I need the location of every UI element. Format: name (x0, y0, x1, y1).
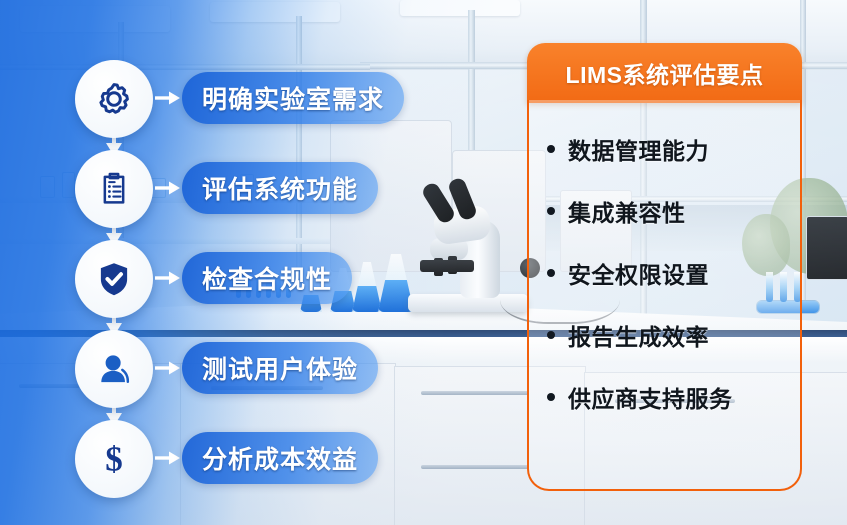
list-item-label: 数据管理能力 (568, 132, 709, 166)
step-icon-circle (75, 60, 153, 138)
flow-step-label-pill[interactable]: 明确实验室需求 (182, 72, 404, 124)
arrow-right-icon (155, 270, 181, 286)
flow-step-label: 检查合规性 (202, 260, 332, 296)
list-item-label: 供应商支持服务 (568, 380, 733, 414)
arrow-right-icon (155, 90, 181, 106)
dollar-icon: $ (93, 438, 135, 480)
step-icon-circle: $ (75, 420, 153, 498)
flow-step-label: 评估系统功能 (202, 170, 358, 206)
gear-icon (93, 78, 135, 120)
bullet-dot-icon (547, 207, 555, 215)
flow-step-label: 明确实验室需求 (202, 80, 384, 116)
flow-step-label: 测试用户体验 (202, 350, 358, 386)
list-item[interactable]: 供应商支持服务 (547, 380, 800, 414)
list-item-label: 报告生成效率 (568, 318, 709, 352)
list-item[interactable]: 数据管理能力 (547, 132, 800, 166)
list-item[interactable]: 安全权限设置 (547, 256, 800, 290)
flow-step-label-pill[interactable]: 分析成本效益 (182, 432, 378, 484)
bullet-dot-icon (547, 145, 555, 153)
list-item[interactable]: 报告生成效率 (547, 318, 800, 352)
flow-step-label-pill[interactable]: 检查合规性 (182, 252, 352, 304)
step-icon-circle (75, 150, 153, 228)
shield-check-icon (93, 258, 135, 300)
list-item-label: 集成兼容性 (568, 194, 686, 228)
arrow-right-icon (155, 180, 181, 196)
bullet-dot-icon (547, 393, 555, 401)
panel-title: LIMS系统评估要点 (566, 56, 764, 90)
bullet-dot-icon (547, 269, 555, 277)
process-flow: 明确实验室需求 (0, 0, 470, 525)
user-icon (93, 348, 135, 390)
arrow-right-icon (155, 360, 181, 376)
arrow-right-icon (155, 450, 181, 466)
evaluation-points-panel: LIMS系统评估要点 数据管理能力 集成兼容性 安全权限设置 报告生成效率 供应… (527, 43, 802, 491)
step-icon-circle (75, 330, 153, 408)
bullet-dot-icon (547, 331, 555, 339)
list-item-label: 安全权限设置 (568, 256, 709, 290)
flow-step-label-pill[interactable]: 测试用户体验 (182, 342, 378, 394)
flow-step-label: 分析成本效益 (202, 440, 358, 476)
step-icon-circle (75, 240, 153, 318)
infographic-canvas: 明确实验室需求 (0, 0, 847, 525)
svg-text:$: $ (105, 439, 123, 478)
panel-body: 数据管理能力 集成兼容性 安全权限设置 报告生成效率 供应商支持服务 (527, 100, 802, 491)
list-item[interactable]: 集成兼容性 (547, 194, 800, 228)
flow-step-label-pill[interactable]: 评估系统功能 (182, 162, 378, 214)
clipboard-icon (94, 169, 134, 209)
panel-header: LIMS系统评估要点 (527, 43, 802, 103)
